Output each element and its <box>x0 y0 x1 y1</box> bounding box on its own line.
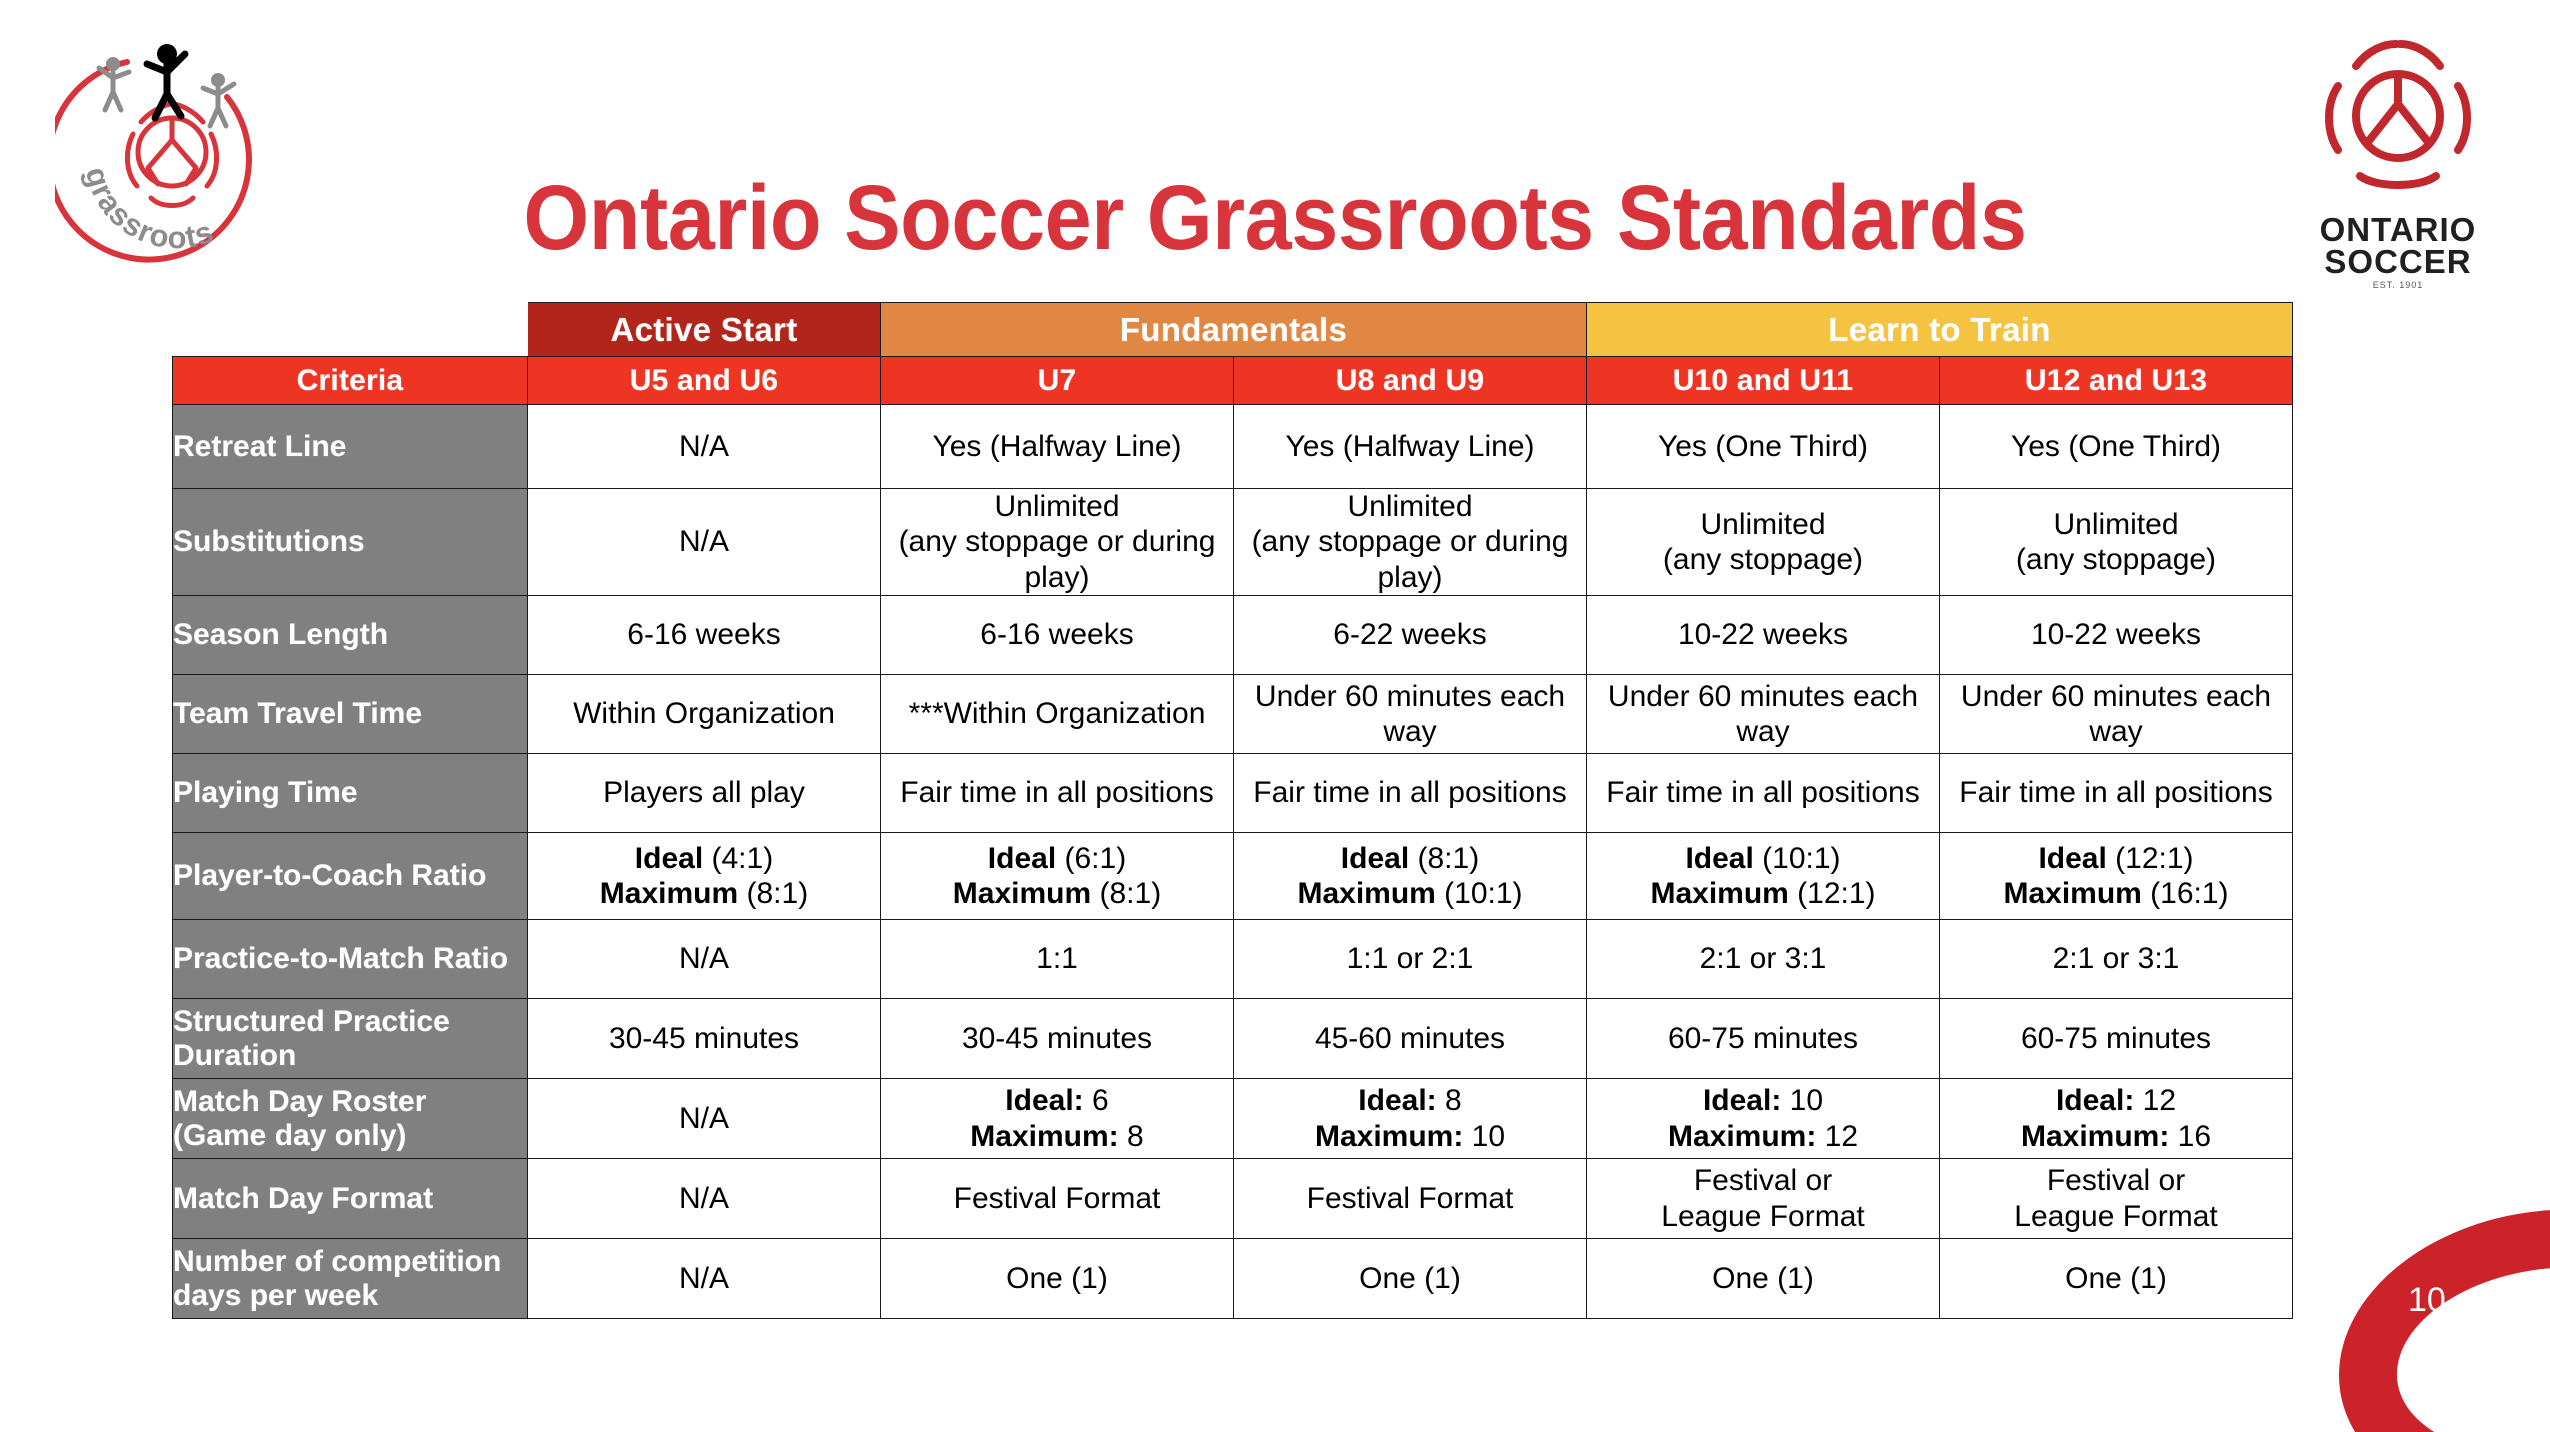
table-cell: Unlimited(any stoppage) <box>1940 489 2293 596</box>
table-cell: Yes (Halfway Line) <box>1234 405 1587 489</box>
table-cell: N/A <box>528 405 881 489</box>
row-label: Match Day Roster(Game day only) <box>173 1079 528 1159</box>
table-cell: ***Within Organization <box>881 675 1234 754</box>
table-cell: Ideal: 10Maximum: 12 <box>1587 1079 1940 1159</box>
wordmark-line-2: SOCCER <box>2324 243 2471 280</box>
grassroots-standards-table: Active StartFundamentalsLearn to Train C… <box>172 302 2293 1319</box>
table-cell: Ideal (4:1)Maximum (8:1) <box>528 833 881 920</box>
row-label: Player-to-Coach Ratio <box>173 833 528 920</box>
table-cell: Fair time in all positions <box>1587 754 1940 833</box>
stage-band-fundamental: Fundamentals <box>881 303 1587 357</box>
slide-header: grassroots Ontario Soccer Grassroots Sta… <box>0 0 2550 300</box>
table-cell: Ideal (12:1)Maximum (16:1) <box>1940 833 2293 920</box>
row-label: Structured PracticeDuration <box>173 999 528 1079</box>
table-row: Playing TimePlayers all playFair time in… <box>173 754 2293 833</box>
table-cell: 30-45 minutes <box>881 999 1234 1079</box>
table-cell: One (1) <box>881 1239 1234 1319</box>
row-label: Match Day Format <box>173 1159 528 1239</box>
row-label: Substitutions <box>173 489 528 596</box>
table-row: Number of competitiondays per weekN/AOne… <box>173 1239 2293 1319</box>
table-cell: One (1) <box>1234 1239 1587 1319</box>
column-header-age-3: U8 and U9 <box>1234 357 1587 405</box>
row-label: Number of competitiondays per week <box>173 1239 528 1319</box>
table-row: Retreat LineN/AYes (Halfway Line)Yes (Ha… <box>173 405 2293 489</box>
table-cell: One (1) <box>1940 1239 2293 1319</box>
ontario-soccer-ball-icon <box>2298 28 2498 208</box>
table-cell: Players all play <box>528 754 881 833</box>
row-label: Playing Time <box>173 754 528 833</box>
table-cell: 6-16 weeks <box>881 596 1234 675</box>
table-row: SubstitutionsN/AUnlimited(any stoppage o… <box>173 489 2293 596</box>
column-header-age-4: U10 and U11 <box>1587 357 1940 405</box>
table-row: Practice-to-Match RatioN/A1:11:1 or 2:12… <box>173 920 2293 999</box>
row-label: Team Travel Time <box>173 675 528 754</box>
ontario-soccer-wordmark: ONTARIO SOCCER <box>2298 214 2498 279</box>
table-cell: 1:1 or 2:1 <box>1234 920 1587 999</box>
column-header-age-2: U7 <box>881 357 1234 405</box>
table-cell: 2:1 or 3:1 <box>1587 920 1940 999</box>
table-cell: 10-22 weeks <box>1940 596 2293 675</box>
table-cell: 10-22 weeks <box>1587 596 1940 675</box>
table-cell: N/A <box>528 489 881 596</box>
table-cell: Unlimited(any stoppage or during play) <box>881 489 1234 596</box>
table-row: Player-to-Coach RatioIdeal (4:1)Maximum … <box>173 833 2293 920</box>
table-cell: Yes (One Third) <box>1587 405 1940 489</box>
grassroots-logo: grassroots <box>55 22 290 272</box>
table-cell: Festival orLeague Format <box>1940 1159 2293 1239</box>
table-cell: Yes (One Third) <box>1940 405 2293 489</box>
ontario-soccer-est: EST. 1901 <box>2298 280 2498 290</box>
page-number-decoration: 10 <box>2320 1177 2550 1432</box>
table-cell: N/A <box>528 1159 881 1239</box>
table-cell: Within Organization <box>528 675 881 754</box>
table-cell: 1:1 <box>881 920 1234 999</box>
table-cell: 60-75 minutes <box>1940 999 2293 1079</box>
table-cell: One (1) <box>1587 1239 1940 1319</box>
table-cell: Under 60 minutes each way <box>1234 675 1587 754</box>
table-cell: N/A <box>528 1239 881 1319</box>
red-swoosh-shape <box>2320 1183 2550 1432</box>
table-cell: Ideal (8:1)Maximum (10:1) <box>1234 833 1587 920</box>
table-row: Match Day FormatN/AFestival FormatFestiv… <box>173 1159 2293 1239</box>
stage-band-spacer <box>173 303 528 357</box>
stage-band-active: Active Start <box>528 303 881 357</box>
table-cell: 2:1 or 3:1 <box>1940 920 2293 999</box>
table-cell: Fair time in all positions <box>1234 754 1587 833</box>
stage-band-learn: Learn to Train <box>1587 303 2293 357</box>
table-cell: Fair time in all positions <box>1940 754 2293 833</box>
table-cell: N/A <box>528 1079 881 1159</box>
table-cell: Yes (Halfway Line) <box>881 405 1234 489</box>
table-cell: 6-22 weeks <box>1234 596 1587 675</box>
table-cell: Under 60 minutes each way <box>1940 675 2293 754</box>
row-label: Retreat Line <box>173 405 528 489</box>
column-header-age-1: U5 and U6 <box>528 357 881 405</box>
table-body: Retreat LineN/AYes (Halfway Line)Yes (Ha… <box>173 405 2293 1319</box>
stage-band-row: Active StartFundamentalsLearn to Train <box>173 303 2293 357</box>
ontario-soccer-logo: ONTARIO SOCCER EST. 1901 <box>2298 28 2498 286</box>
table-cell: Ideal: 12Maximum: 16 <box>1940 1079 2293 1159</box>
table-row: Team Travel TimeWithin Organization***Wi… <box>173 675 2293 754</box>
table-cell: N/A <box>528 920 881 999</box>
table-cell: Festival Format <box>1234 1159 1587 1239</box>
table-cell: 6-16 weeks <box>528 596 881 675</box>
table-row: Match Day Roster(Game day only)N/AIdeal:… <box>173 1079 2293 1159</box>
table-cell: 60-75 minutes <box>1587 999 1940 1079</box>
table-cell: 45-60 minutes <box>1234 999 1587 1079</box>
table-cell: Unlimited(any stoppage) <box>1587 489 1940 596</box>
table-cell: Ideal (10:1)Maximum (12:1) <box>1587 833 1940 920</box>
page-title: Ontario Soccer Grassroots Standards <box>415 172 2135 264</box>
table-cell: Ideal: 6Maximum: 8 <box>881 1079 1234 1159</box>
table-cell: Festival orLeague Format <box>1587 1159 1940 1239</box>
table-cell: Fair time in all positions <box>881 754 1234 833</box>
table-row: Structured PracticeDuration30-45 minutes… <box>173 999 2293 1079</box>
table-cell: Unlimited(any stoppage or during play) <box>1234 489 1587 596</box>
row-label: Season Length <box>173 596 528 675</box>
page-number: 10 <box>2408 1281 2446 1320</box>
column-header-age-5: U12 and U13 <box>1940 357 2293 405</box>
column-header-criteria: Criteria <box>173 357 528 405</box>
row-label: Practice-to-Match Ratio <box>173 920 528 999</box>
table-cell: Under 60 minutes each way <box>1587 675 1940 754</box>
column-header-row: CriteriaU5 and U6U7U8 and U9U10 and U11U… <box>173 357 2293 405</box>
table-cell: Ideal (6:1)Maximum (8:1) <box>881 833 1234 920</box>
table-cell: 30-45 minutes <box>528 999 881 1079</box>
table-row: Season Length6-16 weeks6-16 weeks6-22 we… <box>173 596 2293 675</box>
table-cell: Ideal: 8Maximum: 10 <box>1234 1079 1587 1159</box>
table-cell: Festival Format <box>881 1159 1234 1239</box>
